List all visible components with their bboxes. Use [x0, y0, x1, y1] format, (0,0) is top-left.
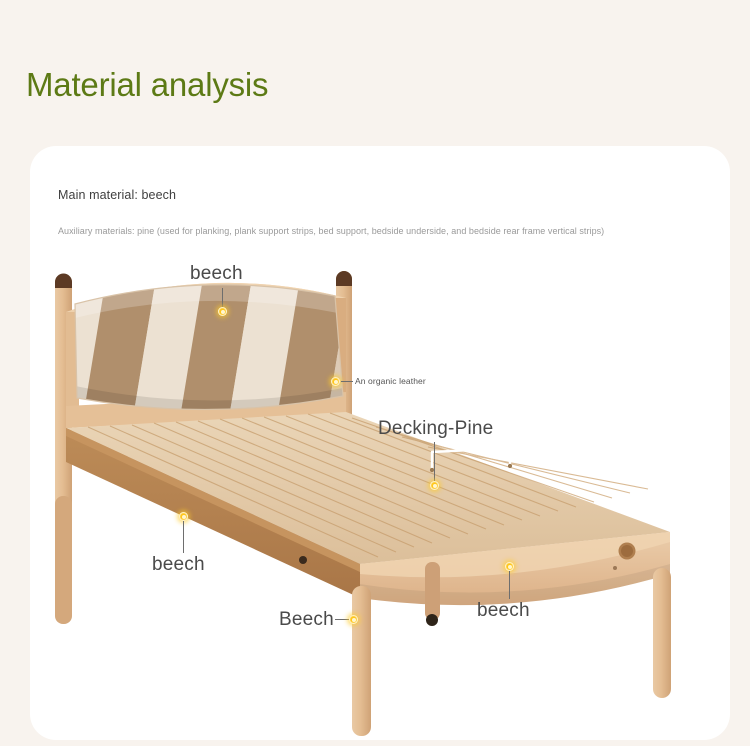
- leader-line-beech-foot-rail: [509, 571, 510, 599]
- material-analysis-card: Main material: beech Auxiliary materials…: [30, 146, 730, 740]
- marker-dot-decking-pine[interactable]: [430, 481, 439, 490]
- annotation-label-beech-foot-rail: beech: [477, 600, 530, 622]
- annotation-label-beech-side-rail: beech: [152, 554, 205, 576]
- bed-illustration: [30, 246, 730, 736]
- bed-leg-front-left: [352, 586, 371, 736]
- annotation-label-decking-pine: Decking-Pine: [378, 418, 493, 440]
- auxiliary-material-label: Auxiliary materials: pine (used for plan…: [58, 226, 604, 236]
- bed-leg-rear-center: [425, 562, 440, 626]
- page-title: Material analysis: [26, 66, 268, 104]
- bed-leg-headboard-left: [55, 496, 72, 624]
- marker-dot-beech-foot-leg[interactable]: [349, 615, 358, 624]
- main-material-label: Main material: beech: [58, 188, 176, 202]
- annotation-label-beech-headboard-top: beech: [190, 263, 243, 285]
- annotation-label-beech-foot-leg: Beech: [279, 609, 334, 631]
- bed-leg-front-right: [653, 568, 671, 698]
- annotation-label-organic-leather: An organic leather: [355, 376, 426, 386]
- marker-dot-beech-headboard-top[interactable]: [218, 307, 227, 316]
- leader-line-organic-leather: [341, 381, 353, 382]
- leader-line-decking-pine: [434, 442, 435, 484]
- marker-dot-beech-side-rail[interactable]: [179, 512, 188, 521]
- marker-dot-organic-leather[interactable]: [331, 377, 340, 386]
- leader-line-beech-side-rail: [183, 521, 184, 553]
- marker-dot-beech-foot-rail[interactable]: [505, 562, 514, 571]
